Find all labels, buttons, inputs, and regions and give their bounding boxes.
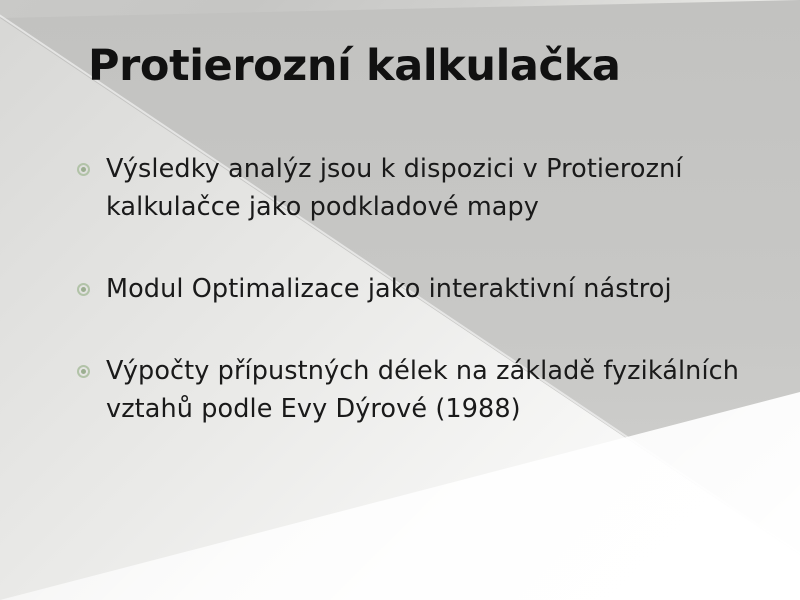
ring-bullet-icon bbox=[77, 365, 90, 378]
slide-content: Protierozní kalkulačka Výsledky analýz j… bbox=[0, 0, 800, 600]
slide-title: Protierozní kalkulačka bbox=[88, 44, 748, 89]
bullet-item-text: Výsledky analýz jsou k dispozici v Proti… bbox=[106, 150, 772, 226]
presentation-slide: Protierozní kalkulačka Výsledky analýz j… bbox=[0, 0, 800, 600]
bullet-list: Výsledky analýz jsou k dispozici v Proti… bbox=[72, 150, 772, 428]
bullet-item-text: Výpočty přípustných délek na základě fyz… bbox=[106, 352, 772, 428]
ring-bullet-icon bbox=[77, 283, 90, 296]
bullet-item: Modul Optimalizace jako interaktivní nás… bbox=[72, 270, 772, 308]
bullet-item-text: Modul Optimalizace jako interaktivní nás… bbox=[106, 270, 772, 308]
bullet-item: Výpočty přípustných délek na základě fyz… bbox=[72, 352, 772, 428]
bullet-item: Výsledky analýz jsou k dispozici v Proti… bbox=[72, 150, 772, 226]
ring-bullet-icon bbox=[77, 163, 90, 176]
